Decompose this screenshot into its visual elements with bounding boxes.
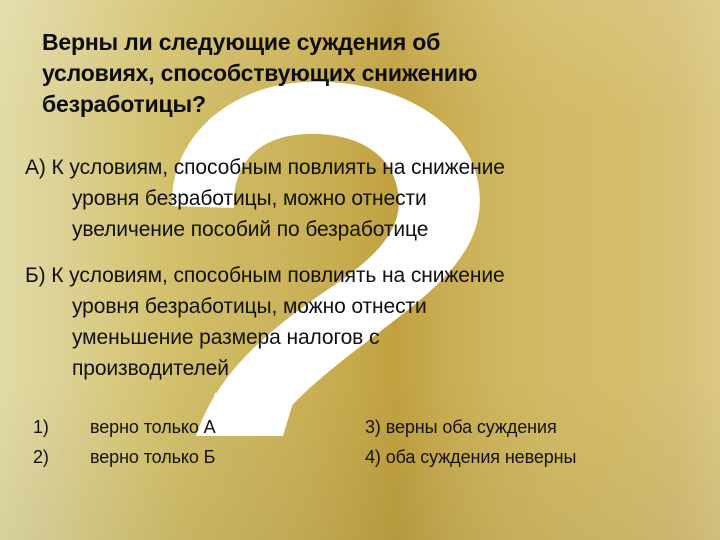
answer-option-1-label: верно только А	[90, 417, 216, 437]
answer-option-4-number: 4)	[365, 442, 381, 472]
answer-option-3-number: 3)	[365, 412, 381, 442]
statement-a-line-2: уровня безработицы, можно отнести	[25, 183, 675, 214]
slide-canvas: Верны ли следующие суждения об условиях,…	[0, 0, 720, 540]
statement-b-line-1: Б) К условиям, способным повлиять на сни…	[25, 260, 675, 291]
answer-option-1-number: 1)	[33, 412, 90, 442]
answer-column-left: 1)верно только А 2)верно только Б	[33, 412, 216, 472]
statement-b-line-4: производителей	[25, 353, 675, 384]
answer-option-1[interactable]: 1)верно только А	[33, 412, 216, 442]
answer-option-4[interactable]: 4) оба суждения неверны	[365, 442, 576, 472]
statement-b: Б) К условиям, способным повлиять на сни…	[25, 260, 675, 384]
statement-a: А) К условиям, способным повлиять на сни…	[25, 152, 675, 245]
statement-a-line-1: А) К условиям, способным повлиять на сни…	[25, 152, 675, 183]
answer-column-right: 3) верны оба суждения 4) оба суждения не…	[365, 412, 576, 472]
answer-option-3-text: верны оба суждения	[386, 417, 557, 437]
title-line-3: безработицы?	[42, 89, 642, 120]
slide-text-layer: Верны ли следующие суждения об условиях,…	[0, 0, 720, 540]
answer-option-2-number: 2)	[33, 442, 90, 472]
answer-option-3[interactable]: 3) верны оба суждения	[365, 412, 576, 442]
answer-options: 1)верно только А 2)верно только Б 3) вер…	[0, 412, 720, 482]
title-line-2: условиях, способствующих снижению	[42, 58, 642, 89]
statement-a-line-3: увеличение пособий по безработице	[25, 214, 675, 245]
answer-option-2[interactable]: 2)верно только Б	[33, 442, 216, 472]
answer-option-4-text: оба суждения неверны	[386, 447, 577, 467]
title-line-1: Верны ли следующие суждения об	[42, 27, 642, 58]
answer-option-2-label: верно только Б	[90, 447, 215, 467]
statement-b-line-3: уменьшение размера налогов с	[25, 322, 675, 353]
statement-b-line-2: уровня безработицы, можно отнести	[25, 291, 675, 322]
page-title: Верны ли следующие суждения об условиях,…	[42, 27, 642, 120]
